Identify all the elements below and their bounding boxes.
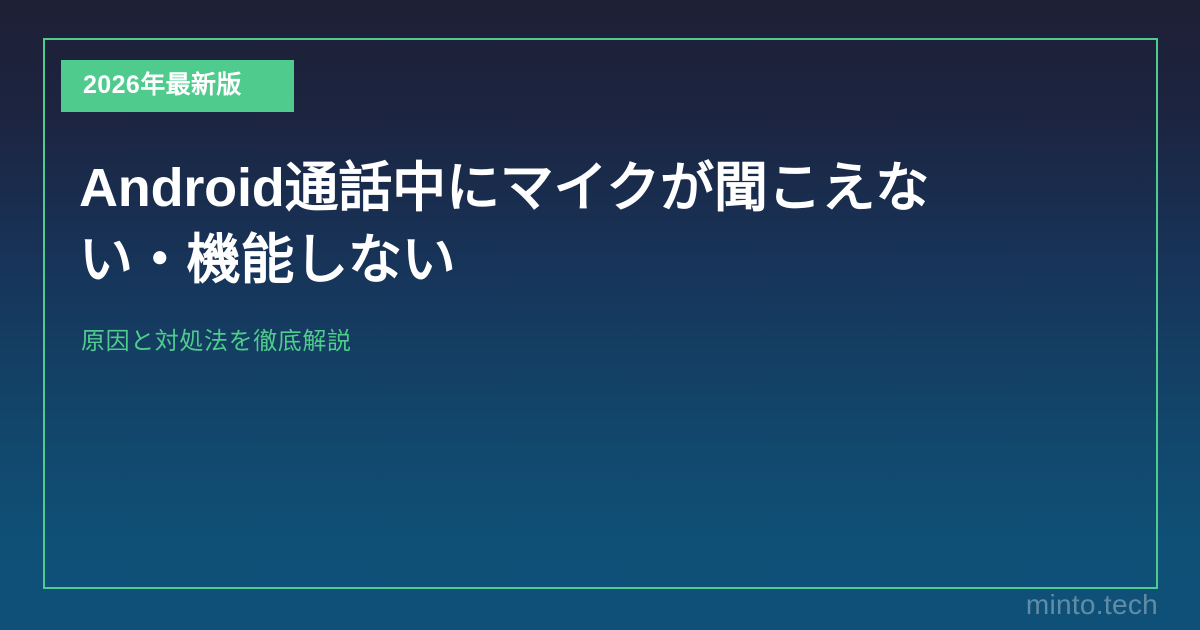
page-subtitle: 原因と対処法を徹底解説	[61, 325, 1118, 359]
og-card: 2026年最新版 Android通話中にマイクが聞こえない・機能しない 原因と対…	[0, 0, 1200, 630]
site-watermark: minto.tech	[1026, 591, 1158, 619]
card-content: 2026年最新版 Android通話中にマイクが聞こえない・機能しない 原因と対…	[43, 38, 1158, 589]
page-title: Android通話中にマイクが聞こえない・機能しない	[61, 153, 979, 297]
year-badge: 2026年最新版	[61, 60, 294, 112]
